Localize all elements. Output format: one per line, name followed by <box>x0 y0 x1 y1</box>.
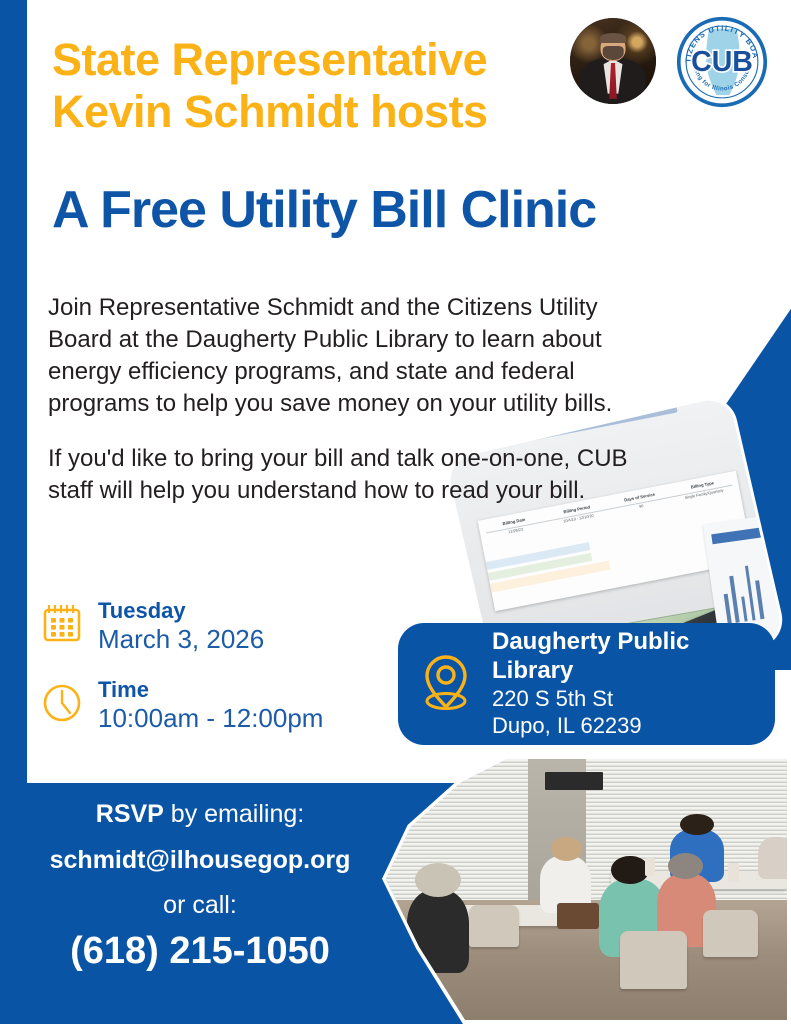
headshot-beard <box>603 46 624 60</box>
rsvp-line: RSVP by emailing: <box>0 800 400 829</box>
host-heading: State Representative Kevin Schmidt hosts <box>52 34 572 138</box>
rsvp-email[interactable]: schmidt@ilhousegop.org <box>0 846 400 875</box>
event-title: A Free Utility Bill Clinic <box>52 182 772 238</box>
calendar-icon <box>40 602 84 651</box>
bill-chart-bar <box>724 594 732 624</box>
attendee-head <box>680 814 713 835</box>
event-date-value: March 3, 2026 <box>98 624 264 655</box>
event-date-row: Tuesday March 3, 2026 <box>40 598 323 655</box>
cub-acronym: CUB <box>691 46 753 78</box>
event-time-row: Time 10:00am - 12:00pm <box>40 677 323 734</box>
event-time-text: Time 10:00am - 12:00pm <box>98 677 323 734</box>
location-badge: Daugherty Public Library 220 S 5th St Du… <box>398 623 775 745</box>
host-heading-line-2: Kevin Schmidt hosts <box>52 86 572 138</box>
flyer-poster: CITIZENS UTILITY BOARD Fighting for Illi… <box>0 0 791 1024</box>
representative-headshot <box>570 18 656 104</box>
bill-chart-bar <box>729 576 739 623</box>
rsvp-or-call: or call: <box>0 891 400 920</box>
cub-logo: CITIZENS UTILITY BOARD Fighting for Illi… <box>676 16 768 108</box>
map-pin-icon <box>418 651 474 718</box>
folding-chair <box>703 910 757 957</box>
body-paragraph-1: Join Representative Schmidt and the Citi… <box>48 292 648 421</box>
event-day-label: Tuesday <box>98 598 264 624</box>
body-copy: Join Representative Schmidt and the Citi… <box>48 292 648 529</box>
handbag <box>557 903 599 929</box>
attendee-head <box>551 837 582 860</box>
location-city-state-zip: Dupo, IL 62239 <box>492 713 755 740</box>
headshot-hair <box>600 33 626 42</box>
wall-sign <box>545 772 604 790</box>
bill-chart-bar <box>755 581 764 620</box>
rsvp-rest: by emailing: <box>164 800 304 828</box>
event-details: Tuesday March 3, 2026 Time 10:00am - 12:… <box>40 598 323 755</box>
rsvp-strong: RSVP <box>96 800 164 828</box>
bill-side-header <box>711 528 762 544</box>
water-bottle <box>728 863 738 881</box>
bill-chart-bar <box>741 597 748 622</box>
location-text: Daugherty Public Library 220 S 5th St Du… <box>492 628 755 739</box>
clock-icon <box>40 680 84 729</box>
rsvp-block: RSVP by emailing: schmidt@ilhousegop.org… <box>0 800 400 973</box>
event-time-value: 10:00am - 12:00pm <box>98 703 323 734</box>
location-street: 220 S 5th St <box>492 686 755 713</box>
host-heading-line-1: State Representative <box>52 34 572 86</box>
rsvp-phone[interactable]: (618) 215-1050 <box>0 930 400 973</box>
event-time-label: Time <box>98 677 323 703</box>
water-bottle <box>645 858 655 876</box>
body-paragraph-2: If you'd like to bring your bill and tal… <box>48 443 648 507</box>
location-name: Daugherty Public Library <box>492 628 755 686</box>
attendee <box>758 837 787 879</box>
folding-chair <box>620 931 687 988</box>
attendee-head <box>611 856 649 885</box>
folding-chair <box>469 905 519 947</box>
event-date-text: Tuesday March 3, 2026 <box>98 598 264 655</box>
